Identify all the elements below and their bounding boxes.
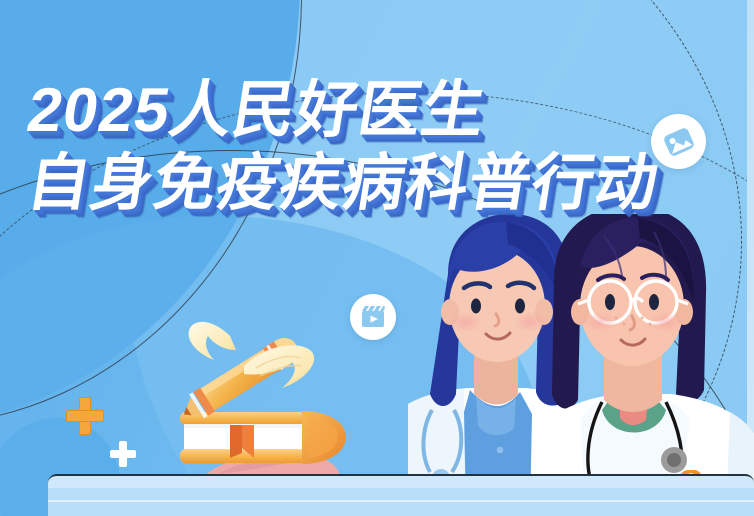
doctor-right-figure <box>540 214 754 516</box>
image-photo-glyph <box>661 124 697 160</box>
image-photo-icon[interactable] <box>651 114 706 169</box>
title-line-2: 自身免疫疾病科普行动 <box>23 150 664 218</box>
video-clapperboard-glyph <box>359 303 387 331</box>
poster-banner: 2025人民好医生 自身免疫疾病科普行动 <box>0 0 754 516</box>
title-line-1: 2025人民好医生 <box>23 78 663 144</box>
pencil-wing-left <box>189 322 236 360</box>
winged-pencil-illustration <box>170 318 330 428</box>
doctors-illustration <box>408 214 754 516</box>
reception-counter <box>48 474 754 516</box>
plus-white-decoration <box>110 441 136 467</box>
video-clapperboard-icon[interactable] <box>350 294 396 340</box>
counter-highlight-line <box>48 500 754 502</box>
plus-orange-decoration <box>66 397 104 435</box>
poster-title: 2025人民好医生 自身免疫疾病科普行动 <box>28 78 658 218</box>
counter-body <box>48 488 754 516</box>
